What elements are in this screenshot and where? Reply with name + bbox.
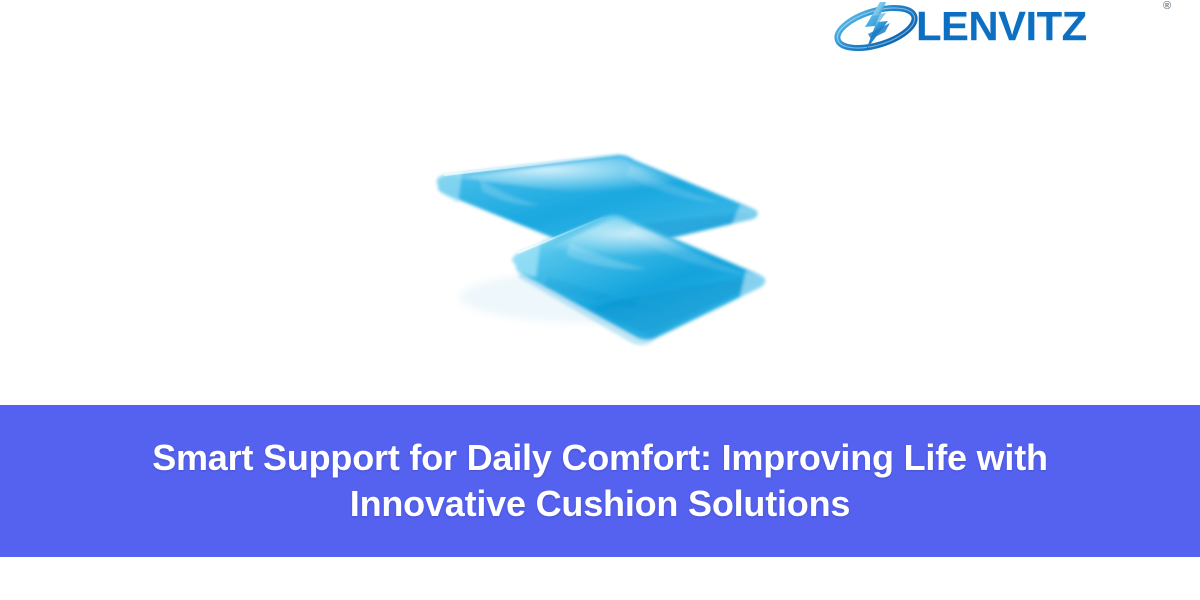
gel-cushion-pack-image xyxy=(420,147,800,347)
article-title-banner: Smart Support for Daily Comfort: Improvi… xyxy=(0,405,1200,557)
footer-whitespace xyxy=(0,557,1200,600)
page-title: Smart Support for Daily Comfort: Improvi… xyxy=(45,435,1155,527)
registered-trademark-icon: ® xyxy=(1163,1,1171,12)
brand-wordmark: LENVITZ xyxy=(916,6,1087,47)
page-title-line-2: Innovative Cushion Solutions xyxy=(45,481,1155,527)
product-image-area xyxy=(0,52,1200,405)
brand-logo[interactable]: LENVITZ xyxy=(828,0,1188,52)
swoosh-arrow-icon xyxy=(828,1,924,51)
page-title-line-1: Smart Support for Daily Comfort: Improvi… xyxy=(45,435,1155,481)
article-hero-page: LENVITZ ® xyxy=(0,0,1200,600)
